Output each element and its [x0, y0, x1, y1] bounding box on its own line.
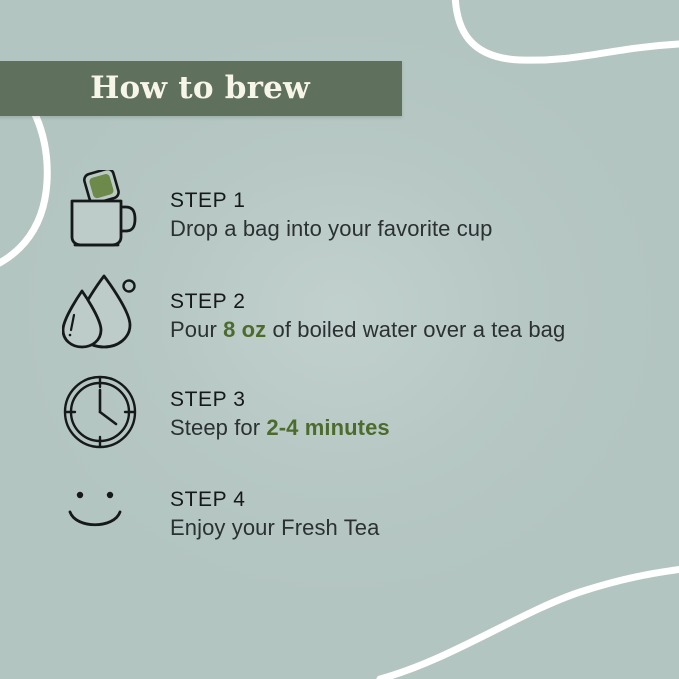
page-title: How to brew — [78, 73, 310, 104]
step-icon-slot — [62, 487, 158, 573]
desc-part: of boiled water over a tea bag — [266, 317, 565, 342]
step-row: STEP 3 Steep for 2-4 minutes — [0, 366, 679, 465]
desc-highlight: 8 oz — [223, 317, 266, 342]
brewing-instructions-poster: How to brew — [0, 0, 679, 679]
step-label: STEP 1 — [170, 189, 492, 213]
step-text-block: STEP 4 Enjoy your Fresh Tea — [170, 465, 379, 542]
step-description: Enjoy your Fresh Tea — [170, 515, 379, 542]
water-drops-icon — [62, 273, 144, 351]
step-label: STEP 3 — [170, 388, 390, 412]
step-row: STEP 1 Drop a bag into your favorite cup — [0, 168, 679, 267]
step-description: Pour 8 oz of boiled water over a tea bag — [170, 317, 565, 344]
top-right-wave-line — [455, 0, 679, 60]
step-label: STEP 4 — [170, 488, 379, 512]
step-icon-slot — [62, 170, 158, 256]
title-banner: How to brew — [0, 61, 402, 116]
step-text-block: STEP 3 Steep for 2-4 minutes — [170, 366, 390, 442]
bottom-right-wave-line — [380, 568, 679, 679]
step-text-block: STEP 2 Pour 8 oz of boiled water over a … — [170, 267, 565, 344]
step-icon-slot — [62, 273, 158, 359]
step-label: STEP 2 — [170, 290, 565, 314]
desc-part: Pour — [170, 317, 223, 342]
mug-with-teabag-icon — [62, 170, 140, 250]
step-row: STEP 2 Pour 8 oz of boiled water over a … — [0, 267, 679, 366]
step-description: Steep for 2-4 minutes — [170, 415, 390, 442]
step-text-block: STEP 1 Drop a bag into your favorite cup — [170, 168, 492, 243]
desc-part: Enjoy your Fresh Tea — [170, 515, 379, 540]
smiley-face-icon — [62, 487, 136, 537]
desc-part: Steep for — [170, 415, 266, 440]
step-icon-slot — [62, 374, 158, 460]
steps-list: STEP 1 Drop a bag into your favorite cup — [0, 168, 679, 564]
desc-highlight: 2-4 minutes — [266, 415, 389, 440]
desc-part: Drop a bag into your favorite cup — [170, 216, 492, 241]
clock-icon — [62, 374, 138, 450]
step-row: STEP 4 Enjoy your Fresh Tea — [0, 465, 679, 564]
step-description: Drop a bag into your favorite cup — [170, 216, 492, 243]
